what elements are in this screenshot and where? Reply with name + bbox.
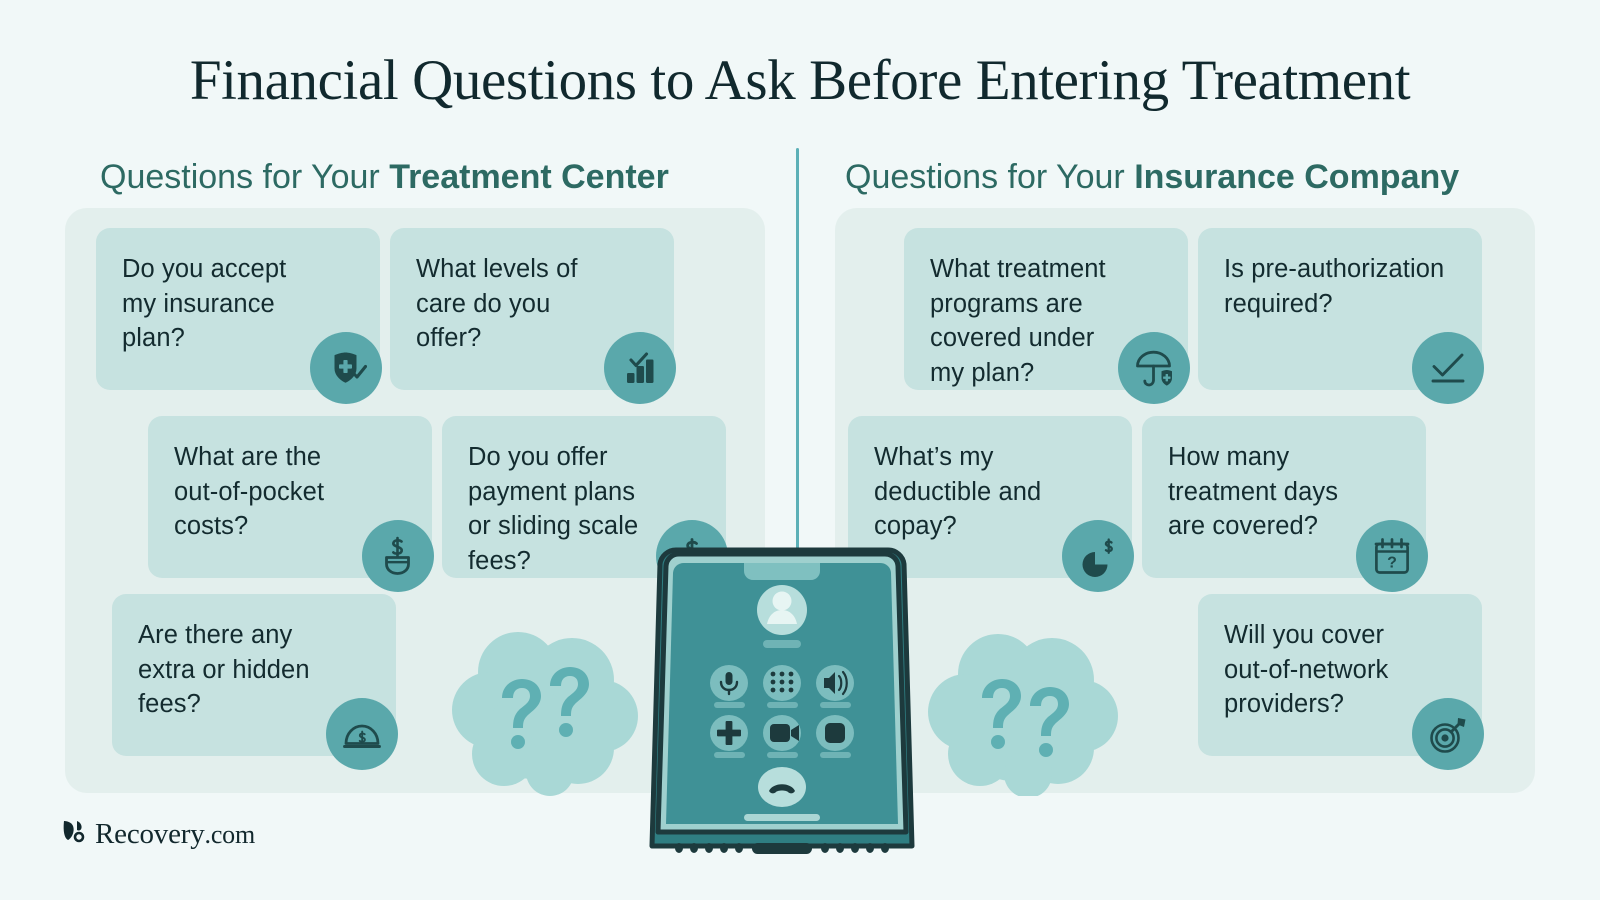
dollar-dome-icon bbox=[326, 698, 398, 770]
page-title: Financial Questions to Ask Before Enteri… bbox=[0, 48, 1600, 113]
column-heading-insurance-company: Questions for Your Insurance Company bbox=[845, 158, 1459, 197]
question-text: How many treatment days are covered? bbox=[1168, 440, 1400, 544]
question-text: Is pre-authorization required? bbox=[1224, 252, 1456, 321]
dollar-pocket-icon bbox=[362, 520, 434, 592]
umbrella-shield-icon bbox=[1118, 332, 1190, 404]
recovery-leaf-mark-icon bbox=[62, 818, 86, 851]
smartphone-call-screen bbox=[636, 546, 928, 856]
thought-cloud-left bbox=[446, 624, 646, 801]
logo-text: Recovery.com bbox=[95, 818, 255, 851]
column-heading-treatment-center: Questions for Your Treatment Center bbox=[100, 158, 669, 197]
logo-tld: .com bbox=[205, 820, 255, 849]
question-text: Are there any extra or hidden fees? bbox=[138, 618, 370, 722]
infographic-canvas: Financial Questions to Ask Before Enteri… bbox=[0, 0, 1600, 900]
question-text: Will you cover out-of-network providers? bbox=[1224, 618, 1456, 722]
question-text: What levels of care do you offer? bbox=[416, 252, 648, 356]
recovery-logo[interactable]: Recovery.com bbox=[62, 818, 255, 851]
thought-cloud-right bbox=[924, 624, 1124, 801]
svg-text:?: ? bbox=[1387, 555, 1397, 572]
record-stop-icon bbox=[825, 723, 845, 743]
question-text: What are the out-of-pocket costs? bbox=[174, 440, 406, 544]
heading-accent: Insurance Company bbox=[1134, 158, 1459, 196]
check-line-icon bbox=[1412, 332, 1484, 404]
shield-check-icon bbox=[310, 332, 382, 404]
question-text: What’s my deductible and copay? bbox=[874, 440, 1106, 544]
question-text: Do you accept my insurance plan? bbox=[122, 252, 354, 356]
pie-dollar-icon bbox=[1062, 520, 1134, 592]
logo-name: Recovery bbox=[95, 818, 205, 850]
calendar-question-icon: ? bbox=[1356, 520, 1428, 592]
column-divider bbox=[796, 148, 799, 556]
bar-chart-check-icon bbox=[604, 332, 676, 404]
dialpad-keypad-icon bbox=[771, 672, 794, 693]
target-dart-icon bbox=[1412, 698, 1484, 770]
heading-accent: Treatment Center bbox=[389, 158, 669, 196]
heading-prefix: Questions for Your bbox=[100, 158, 389, 196]
heading-prefix: Questions for Your bbox=[845, 158, 1134, 196]
